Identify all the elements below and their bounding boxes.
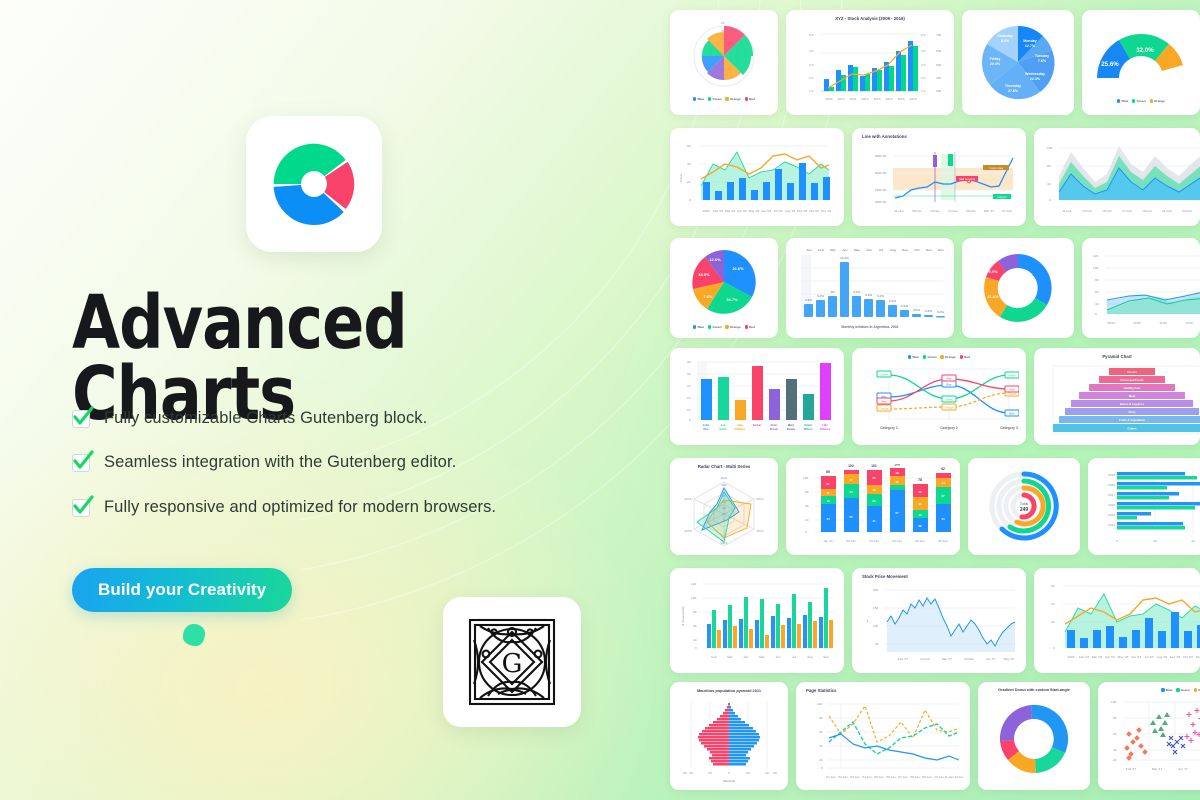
svg-text:500: 500 [936, 63, 941, 67]
chart-card-simple-pie[interactable]: 26.6%34.7%7.6%18.5%12.6% Blue Green Oran… [670, 238, 778, 338]
svg-text:20: 20 [872, 499, 876, 503]
hero-section: Advanced Charts Fully customizable Chart… [0, 0, 660, 800]
svg-text:0.4%: 0.4% [925, 309, 932, 313]
check-icon [72, 499, 90, 517]
legend-orange: Orange [725, 97, 740, 101]
legend-orange: Orange [725, 325, 740, 329]
svg-text:300: 300 [936, 89, 941, 93]
svg-text:3.1%: 3.1% [817, 294, 824, 298]
list-item: Seamless integration with the Gutenberg … [72, 452, 612, 473]
chart-card-grouped-bars[interactable]: 1201008060400 $ (thousands) FebMarAprMay… [670, 568, 844, 673]
chart-card-polar-area[interactable]: 252015105 Blue Green Orange Red [670, 10, 778, 115]
svg-text:Jul: Jul [792, 655, 796, 659]
svg-text:12:00: 12:00 [1185, 321, 1193, 325]
svg-text:10: 10 [687, 408, 691, 412]
chart-card-scatter[interactable]: Blue Green Orange [1098, 682, 1200, 790]
svg-text:26.6%: 26.6% [732, 266, 744, 271]
svg-text:2016: 2016 [685, 497, 692, 501]
svg-text:2014: 2014 [1108, 523, 1115, 527]
svg-text:04 Jan: 04 Jan [892, 539, 902, 543]
chart-card-pyramid[interactable]: Pyramid Chart Sweets Processed Foods Hea… [1034, 348, 1200, 445]
svg-text:25: 25 [872, 476, 876, 480]
svg-text:19 Feb: 19 Feb [1142, 209, 1152, 213]
svg-text:40: 40 [689, 771, 693, 775]
svg-text:60: 60 [722, 500, 726, 504]
svg-text:22: 22 [918, 490, 922, 494]
legend-red: Red [745, 325, 755, 329]
svg-text:26.6%: 26.6% [1032, 272, 1044, 277]
svg-text:08 Jan: 08 Jan [910, 775, 920, 779]
svg-text:2013: 2013 [874, 97, 881, 101]
svg-text:60: 60 [683, 771, 687, 775]
svg-text:22: 22 [918, 524, 922, 528]
build-your-creativity-button[interactable]: Build your Creativity [72, 568, 292, 612]
svg-text:2015: 2015 [1108, 513, 1115, 517]
svg-text:Monday: Monday [1023, 39, 1037, 43]
svg-text:9.9%: 9.9% [988, 269, 998, 274]
svg-text:07 Feb: 07 Feb [1002, 209, 1012, 213]
svg-text:Apr '17: Apr '17 [1178, 767, 1188, 771]
chart-card-stacked-bar-totals[interactable]: 44131121 552317 41201525 671519 22132122… [786, 458, 960, 555]
svg-text:Apr '07: Apr '07 [986, 657, 996, 661]
svg-text:Beans & Legumes: Beans & Legumes [1120, 402, 1145, 406]
svg-text:12 Jan: 12 Jan [954, 775, 963, 779]
svg-text:15: 15 [872, 488, 876, 492]
svg-text:80: 80 [1047, 164, 1051, 168]
app-logo-badge [246, 116, 382, 252]
svg-text:19 Mar: 19 Mar [964, 657, 974, 661]
legend-orange: Orange [1150, 99, 1165, 103]
svg-text:Evans: Evans [787, 427, 795, 431]
svg-text:Mar '03: Mar '03 [1092, 655, 1102, 659]
svg-text:8.6%: 8.6% [1001, 39, 1010, 43]
chart-card-weekday-pie[interactable]: Monday12.7% Tuesday7.6% Wednesday22.3% T… [962, 10, 1074, 115]
svg-text:25.6%: 25.6% [1101, 61, 1119, 68]
legend-blue: Blue [1161, 688, 1172, 692]
svg-text:3.1%: 3.1% [877, 294, 884, 298]
svg-text:Jul '03: Jul '03 [1145, 655, 1154, 659]
svg-text:0: 0 [689, 418, 691, 422]
svg-text:14: 14 [941, 481, 945, 485]
svg-text:Y-axis range: Y-axis range [989, 166, 1004, 170]
svg-text:600: 600 [936, 49, 941, 53]
svg-text:19: 19 [895, 471, 899, 475]
svg-text:60: 60 [805, 504, 809, 508]
gutenberg-ornament-icon: G [458, 610, 566, 714]
svg-text:3.4%: 3.4% [865, 293, 872, 297]
svg-text:8000.00: 8000.00 [875, 200, 886, 204]
svg-text:2013: 2013 [757, 529, 764, 533]
svg-text:15: 15 [687, 396, 691, 400]
chart-card-population-pyramid[interactable]: Mauritius population pyramid 2011 [670, 682, 788, 790]
chart-card-radial-bars[interactable]: Total 249 [968, 458, 1080, 555]
legend-blue: Blue [693, 325, 704, 329]
svg-text:400: 400 [936, 76, 941, 80]
svg-text:10 Jan: 10 Jan [934, 775, 944, 779]
svg-text:0: 0 [689, 198, 691, 202]
svg-text:04 Jan: 04 Jan [862, 775, 872, 779]
legend-red: Red [960, 355, 970, 359]
svg-text:May: May [854, 248, 860, 252]
svg-text:Sep: Sep [902, 248, 908, 252]
svg-text:60: 60 [687, 144, 691, 148]
svg-text:7.6%: 7.6% [1038, 59, 1047, 63]
gutenberg-letter: G [502, 649, 523, 679]
radial-center-value: 249 [1020, 507, 1029, 513]
svg-text:Category 2: Category 2 [940, 426, 958, 430]
svg-text:78: 78 [918, 478, 922, 482]
svg-text:1.0: 1.0 [809, 89, 814, 93]
svg-text:40: 40 [805, 518, 809, 522]
svg-text:Wilson: Wilson [804, 427, 813, 431]
legend-green: Green [1176, 688, 1189, 692]
svg-text:2014: 2014 [886, 97, 893, 101]
legend-green: Green [708, 325, 721, 329]
svg-text:03 Jan: 03 Jan [869, 539, 879, 543]
svg-text:Mar '07: Mar '07 [984, 209, 994, 213]
svg-text:13 Feb: 13 Feb [920, 657, 930, 661]
svg-text:Aug: Aug [890, 248, 896, 252]
chart-card-distributed-bar[interactable]: 30252015100 JohnDoe JoeSmith JakeWilliam… [670, 348, 844, 445]
svg-text:15 Feb: 15 Feb [1102, 209, 1112, 213]
chart-card-page-statistics[interactable]: Page Statistics 100806040200 01 Jan02 Ja… [796, 682, 970, 790]
chart-title: Line with Annotations [859, 134, 1019, 139]
svg-text:11 Feb: 11 Feb [1062, 209, 1072, 213]
feature-label: Fully customizable Charts Gutenberg bloc… [104, 408, 427, 429]
chart-card-argentina-inflation[interactable]: JanFebMarAprMayJun JulAugSepOctNovDec 2.… [786, 238, 954, 338]
svg-text:May '07: May '07 [1004, 657, 1015, 661]
svg-text:40: 40 [1191, 539, 1195, 543]
svg-text:2003: 2003 [1068, 655, 1075, 659]
svg-text:22.3%: 22.3% [1030, 77, 1041, 81]
svg-text:Williams: Williams [735, 427, 746, 431]
svg-text:Dairy: Dairy [1129, 410, 1136, 414]
svg-text:09 Jan: 09 Jan [922, 775, 932, 779]
svg-text:11 Jan: 11 Jan [944, 775, 953, 779]
svg-text:40: 40 [1113, 748, 1117, 752]
chart-card-stacked-area-1[interactable]: 12080400 11 Feb13 Feb15 Feb17 Feb19 Feb2… [1034, 128, 1200, 226]
svg-text:29 Nov: 29 Nov [966, 209, 976, 213]
svg-text:2.3%: 2.3% [805, 298, 812, 302]
svg-text:Jun '03: Jun '03 [1131, 655, 1141, 659]
svg-text:Thursday: Thursday [1005, 84, 1021, 88]
svg-text:92: 92 [941, 467, 945, 471]
svg-text:2011: 2011 [850, 97, 857, 101]
svg-text:20: 20 [687, 180, 691, 184]
svg-text:Nov '03: Nov '03 [821, 209, 832, 213]
svg-text:80: 80 [819, 716, 823, 720]
gutenberg-logo-badge: G [443, 597, 581, 727]
svg-text:$ (thousands): $ (thousands) [681, 607, 685, 626]
svg-text:102: 102 [848, 464, 854, 468]
svg-text:13: 13 [826, 499, 830, 503]
svg-text:32.0%: 32.0% [1136, 47, 1154, 54]
svg-text:100: 100 [691, 596, 696, 600]
chart-card-horizontal-bar[interactable]: 201920182017201620152014 02040 [1088, 458, 1200, 555]
svg-text:20: 20 [708, 771, 712, 775]
chart-title: Page Statistics [803, 688, 963, 693]
svg-text:Feb '03: Feb '03 [713, 209, 724, 213]
svg-text:0.5%: 0.5% [913, 308, 920, 312]
svg-text:02 Jan: 02 Jan [846, 539, 856, 543]
legend-green: Green [923, 355, 936, 359]
svg-text:Sold out price: Sold out price [959, 177, 975, 181]
svg-text:40: 40 [765, 771, 769, 775]
svg-text:09:00: 09:00 [1107, 321, 1115, 325]
legend-red: Red [745, 97, 755, 101]
svg-text:Sep: Sep [823, 655, 829, 659]
svg-text:Blue: Blue [946, 383, 952, 387]
svg-text:0: 0 [1053, 646, 1055, 650]
svg-text:Red: Red [947, 377, 952, 381]
svg-text:60: 60 [875, 642, 879, 646]
svg-text:06 Jan: 06 Jan [886, 775, 896, 779]
chart-card-mixed-area-bar-line[interactable]: 2003Feb '03Mar '03Apr '03May '03Jun '03 … [670, 128, 844, 226]
svg-text:Jul '03: Jul '03 [774, 209, 783, 213]
chart-title: Stock Price Movement [859, 574, 1019, 579]
svg-text:80: 80 [1095, 278, 1099, 282]
svg-text:0: 0 [821, 766, 823, 770]
chart-card-radar-multi[interactable]: Radar Chart - Multi Series 2011201220132… [670, 458, 778, 555]
svg-text:Amber: Amber [753, 423, 762, 427]
svg-text:Green: Green [945, 398, 953, 402]
svg-text:2010: 2010 [838, 97, 845, 101]
svg-text:18.5%: 18.5% [698, 272, 710, 277]
svg-text:22.3%: 22.3% [1020, 312, 1032, 317]
list-item: Fully customizable Charts Gutenberg bloc… [72, 408, 612, 429]
svg-text:11.7%: 11.7% [1006, 258, 1018, 263]
svg-text:2012: 2012 [862, 97, 869, 101]
svg-text:20: 20 [819, 758, 823, 762]
svg-text:60: 60 [1113, 732, 1117, 736]
svg-text:Jun: Jun [776, 655, 781, 659]
svg-text:Sep '03: Sep '03 [1170, 655, 1181, 659]
svg-text:Apr '03: Apr '03 [1105, 655, 1115, 659]
svg-text:Sweets: Sweets [1127, 370, 1137, 374]
svg-text:34.7%: 34.7% [726, 297, 738, 302]
svg-text:2017: 2017 [1108, 493, 1115, 497]
svg-text:15: 15 [895, 480, 899, 484]
svg-text:Points: Points [679, 173, 683, 182]
svg-text:20: 20 [722, 512, 726, 516]
svg-text:2.0: 2.0 [921, 76, 926, 80]
svg-text:109: 109 [894, 464, 900, 467]
svg-text:67: 67 [895, 511, 899, 515]
svg-text:Orange: Orange [945, 406, 954, 410]
svg-text:Support: Support [997, 195, 1006, 199]
svg-text:40: 40 [722, 506, 726, 510]
svg-text:Doe: Doe [703, 427, 709, 431]
svg-text:0: 0 [728, 771, 730, 775]
svg-text:40: 40 [1095, 302, 1099, 306]
chart-card-gauge-radial[interactable]: 25.6% 32.0% Blue Green Orange [1082, 10, 1200, 115]
svg-text:41: 41 [872, 519, 876, 523]
svg-text:Mar '03: Mar '03 [725, 209, 735, 213]
svg-text:Grains: Grains [1127, 427, 1137, 431]
svg-text:Mar '07: Mar '07 [942, 657, 952, 661]
donut-chart-logo-icon [266, 136, 362, 232]
svg-text:0: 0 [723, 518, 725, 522]
svg-text:4.0: 4.0 [809, 49, 814, 53]
svg-text:Green: Green [880, 373, 888, 377]
svg-text:Feb '07: Feb '07 [898, 657, 909, 661]
svg-text:100: 100 [1111, 700, 1116, 704]
svg-text:Mary: Mary [788, 423, 795, 427]
svg-text:25: 25 [687, 372, 691, 376]
svg-text:John: John [703, 423, 710, 427]
svg-text:Feb: Feb [818, 248, 824, 252]
svg-text:Oct '03: Oct '03 [809, 209, 819, 213]
svg-text:12.7%: 12.7% [1025, 44, 1036, 48]
svg-text:2014: 2014 [721, 541, 728, 545]
svg-text:2003: 2003 [703, 209, 710, 213]
svg-text:Sep '03: Sep '03 [797, 209, 808, 213]
svg-text:20: 20 [1113, 758, 1117, 762]
svg-text:Jan '11: Jan '11 [823, 539, 833, 543]
feature-label: Seamless integration with the Gutenberg … [104, 452, 456, 473]
svg-text:02 Jan: 02 Jan [838, 775, 848, 779]
svg-text:Apr: Apr [744, 655, 749, 659]
chart-card-spline-area-2[interactable]: 1201008060400 09:0010:0011:0012:00 [1082, 238, 1200, 338]
svg-text:55: 55 [849, 515, 853, 519]
svg-text:43: 43 [941, 517, 945, 521]
svg-text:Lilly: Lilly [822, 423, 828, 427]
svg-text:120: 120 [691, 582, 696, 586]
svg-text:5.0: 5.0 [809, 33, 814, 37]
svg-text:4%: 4% [830, 290, 835, 294]
svg-text:17 Feb: 17 Feb [1122, 209, 1132, 213]
svg-text:23 Feb: 23 Feb [1182, 209, 1192, 213]
svg-text:11:00: 11:00 [1159, 321, 1167, 325]
svg-text:23: 23 [849, 490, 853, 494]
svg-text:60: 60 [819, 730, 823, 734]
chart-card-mixed-area-bar-line-2[interactable]: 6040200 2003Feb '03Mar '03Apr '03May '03… [1034, 568, 1200, 673]
svg-text:|: | [867, 619, 868, 623]
svg-text:Processed Foods: Processed Foods [1120, 378, 1144, 382]
chart-card-gradient-donut[interactable]: Gradient Donut with custom Start-angle [978, 682, 1090, 790]
svg-text:60: 60 [773, 771, 777, 775]
svg-text:Aug: Aug [807, 655, 813, 659]
svg-text:21: 21 [826, 482, 830, 486]
svg-text:80: 80 [805, 490, 809, 494]
svg-text:100: 100 [721, 483, 726, 487]
chart-card-stock-price-movement[interactable]: Stock Price Movement 20015010060 | Feb '… [852, 568, 1026, 673]
svg-text:08 Nov: 08 Nov [912, 209, 922, 213]
svg-text:7.6%: 7.6% [703, 294, 713, 299]
svg-text:Mar: Mar [830, 248, 836, 252]
svg-text:0: 0 [805, 530, 807, 534]
svg-text:Smith: Smith [719, 427, 727, 431]
chart-card-donut[interactable]: 26.6%22.3% 21.6%9.9%11.7% [962, 238, 1074, 338]
feature-label: Fully responsive and optimized for moder… [104, 497, 496, 518]
svg-text:Red: Red [1010, 388, 1015, 392]
svg-text:0: 0 [695, 646, 697, 650]
svg-text:May '03: May '03 [749, 209, 760, 213]
svg-text:2015: 2015 [685, 529, 692, 533]
svg-text:40: 40 [1047, 182, 1051, 186]
svg-text:60: 60 [1095, 290, 1099, 294]
svg-text:13: 13 [918, 513, 922, 517]
svg-text:27.6%: 27.6% [1008, 89, 1019, 93]
chart-card-slope-bump[interactable]: Blue Green Orange Red Blue Green Orange … [852, 348, 1026, 445]
svg-text:Dec: Dec [938, 248, 944, 252]
svg-text:8800.00: 8800.00 [875, 154, 886, 158]
svg-text:Joe: Joe [721, 423, 726, 427]
svg-text:Percent: Percent [723, 779, 734, 783]
svg-text:4.0: 4.0 [921, 49, 926, 53]
feature-list: Fully customizable Charts Gutenberg bloc… [72, 408, 612, 541]
chart-title: Radar Chart - Multi Series [677, 464, 771, 469]
svg-text:Nov '03: Nov '03 [1196, 655, 1200, 659]
svg-text:120: 120 [1093, 254, 1098, 258]
svg-text:80: 80 [693, 610, 697, 614]
svg-text:60: 60 [1051, 584, 1055, 588]
list-item: Fully responsive and optimized for moder… [72, 497, 612, 518]
chart-title: Mauritius population pyramid 2011 [677, 688, 781, 693]
svg-text:07 Jan: 07 Jan [898, 775, 908, 779]
svg-text:David: David [804, 423, 812, 427]
svg-text:60: 60 [693, 624, 697, 628]
svg-text:Jul: Jul [879, 248, 884, 252]
svg-text:Jun: Jun [866, 248, 872, 252]
svg-text:Feb '03: Feb '03 [1079, 655, 1090, 659]
svg-text:101: 101 [871, 464, 877, 468]
svg-text:2.2%: 2.2% [889, 299, 896, 303]
svg-text:8200.00: 8200.00 [875, 188, 886, 192]
svg-text:44: 44 [826, 517, 830, 521]
svg-text:0: 0 [1095, 312, 1097, 316]
svg-text:Feb '17: Feb '17 [1126, 767, 1137, 771]
svg-text:15 Nov: 15 Nov [930, 209, 940, 213]
svg-text:01 Jan: 01 Jan [826, 775, 836, 779]
svg-text:11: 11 [826, 491, 830, 495]
svg-text:Jake: Jake [737, 423, 743, 427]
svg-text:2019: 2019 [1108, 473, 1115, 477]
svg-text:Tuesday: Tuesday [1035, 54, 1049, 58]
svg-text:Fruits & Vegetables: Fruits & Vegetables [1119, 418, 1145, 422]
chart-title: Pyramid Chart [1041, 354, 1193, 359]
svg-text:100: 100 [817, 702, 822, 706]
chart-title: Gradient Donut with custom Start-angle [985, 688, 1083, 692]
svg-text:20: 20 [1051, 620, 1055, 624]
legend-green: Green [708, 97, 721, 101]
svg-text:2016: 2016 [1108, 503, 1115, 507]
svg-text:2009: 2009 [826, 97, 833, 101]
legend-blue: Blue [693, 97, 704, 101]
svg-text:Healthy Fats: Healthy Fats [1124, 386, 1141, 390]
svg-text:700: 700 [936, 33, 941, 37]
svg-text:0.2%: 0.2% [937, 310, 944, 314]
chart-title: Monthly Inflation in Argentina, 2002 [841, 325, 898, 329]
svg-text:06 Jan: 06 Jan [938, 539, 948, 543]
svg-text:5.0: 5.0 [921, 33, 926, 37]
svg-text:May '03: May '03 [1118, 655, 1129, 659]
chart-card-stock-analysis[interactable]: XYZ - Stock Analysis (2009 - 2016) 20092… [786, 10, 954, 115]
svg-text:2018: 2018 [1108, 483, 1115, 487]
chart-card-line-annotations[interactable]: Line with Annotations Y-axis range Sold … [852, 128, 1026, 226]
svg-text:40: 40 [819, 744, 823, 748]
svg-text:Category 3: Category 3 [1000, 426, 1018, 430]
legend-orange: Orange [940, 355, 955, 359]
svg-text:89: 89 [826, 470, 830, 474]
svg-text:2012: 2012 [757, 497, 764, 501]
svg-text:2015: 2015 [898, 97, 905, 101]
svg-text:21: 21 [918, 502, 922, 506]
svg-text:Oct: Oct [914, 248, 919, 252]
svg-text:Jan: Jan [806, 248, 811, 252]
svg-text:21.6%: 21.6% [987, 294, 999, 299]
svg-text:05 Jan: 05 Jan [915, 539, 925, 543]
